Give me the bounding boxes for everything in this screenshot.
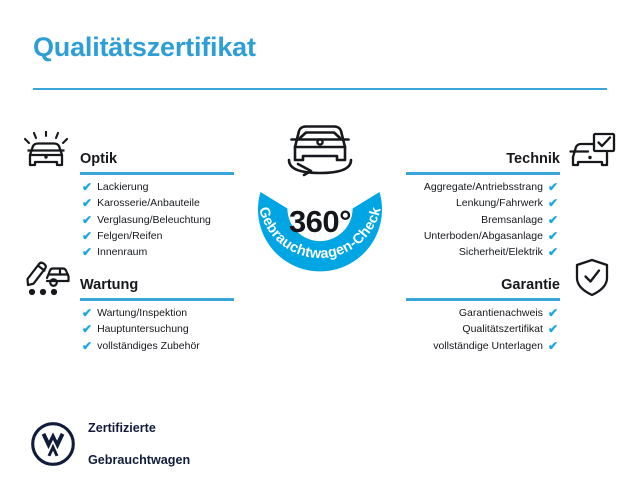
section-header: Optik [22,131,234,173]
check-icon: ✔ [82,340,92,352]
section-divider [406,298,560,301]
vw-certified-logo: Zertifizierte Gebrauchtwagen [31,404,190,484]
section-technik: Technik Aggregate/Antriebsstrang✔Lenkung… [406,131,618,260]
section-title: Wartung [80,277,138,293]
section-title: Optik [80,151,117,167]
check-icon: ✔ [548,307,558,319]
header-divider [33,88,607,90]
checklist-item-label: Aggregate/Antriebsstrang [424,179,543,195]
checklist-item: ✔Felgen/Reifen [22,228,234,244]
checklist-item-label: Qualitätszertifikat [462,321,543,337]
checklist-item: vollständige Unterlagen✔ [406,338,618,354]
check-icon: ✔ [82,230,92,242]
checklist-item-label: vollständige Unterlagen [433,338,543,354]
section-title: Technik [506,151,560,167]
checklist-item-label: Garantienachweis [459,305,543,321]
check-icon: ✔ [548,197,558,209]
section-header: Wartung [22,257,234,299]
check-icon: ✔ [82,307,92,319]
section-divider [80,298,234,301]
footer-text: Zertifizierte Gebrauchtwagen [88,404,190,484]
check-icon: ✔ [548,340,558,352]
check-icon: ✔ [82,197,92,209]
checklist-item: ✔vollständiges Zubehör [22,338,234,354]
car-checkbox-icon [566,131,618,173]
check-icon: ✔ [82,214,92,226]
section-wartung: Wartung ✔Wartung/Inspektion✔Hauptuntersu… [22,257,234,354]
checklist-item: ✔Hauptuntersuchung [22,321,234,337]
checklist-item-label: vollständiges Zubehör [97,338,200,354]
checklist: ✔Lackierung✔Karosserie/Anbauteile✔Vergla… [22,179,234,260]
section-divider [406,172,560,175]
checklist-item-label: Verglasung/Beleuchtung [97,212,211,228]
check-icon: ✔ [548,214,558,226]
check-icon: ✔ [548,230,558,242]
footer-line-2: Gebrauchtwagen [88,452,190,468]
section-title: Garantie [501,277,560,293]
checklist-item: Qualitätszertifikat✔ [406,321,618,337]
page-title: Qualitätszertifikat [33,32,256,63]
checklist-item-label: Felgen/Reifen [97,228,162,244]
checklist-item-label: Karosserie/Anbauteile [97,195,200,211]
checklist-item: Unterboden/Abgasanlage✔ [406,228,618,244]
checklist-item-label: Bremsanlage [481,212,543,228]
gebrauchtwagen-check-badge: Gebrauchtwagen-Check 360° [228,120,412,304]
checklist-item: Garantienachweis✔ [406,305,618,321]
section-garantie: Garantie Garantienachweis✔Qualitätszerti… [406,257,618,354]
check-icon: ✔ [548,323,558,335]
check-icon: ✔ [82,323,92,335]
shield-check-icon [566,257,618,299]
checklist-item-label: Unterboden/Abgasanlage [424,228,543,244]
checklist-item: ✔Verglasung/Beleuchtung [22,212,234,228]
car-shine-icon [22,131,74,173]
checklist-item-label: Hauptuntersuchung [97,321,189,337]
rotating-car-icon [278,120,362,182]
checklist-item-label: Wartung/Inspektion [97,305,187,321]
checklist-item-label: Lenkung/Fahrwerk [456,195,543,211]
checklist-item: ✔Wartung/Inspektion [22,305,234,321]
checklist-item: ✔Lackierung [22,179,234,195]
checklist: Aggregate/Antriebsstrang✔Lenkung/Fahrwer… [406,179,618,260]
check-icon: ✔ [82,181,92,193]
section-divider [80,172,234,175]
checklist-item: Aggregate/Antriebsstrang✔ [406,179,618,195]
checklist-item: ✔Karosserie/Anbauteile [22,195,234,211]
checklist-item-label: Lackierung [97,179,148,195]
badge-value: 360° [228,204,412,240]
service-pen-car-icon [22,257,74,299]
section-header: Garantie [406,257,618,299]
checklist-item: Bremsanlage✔ [406,212,618,228]
section-optik: Optik ✔Lackierung✔Karosserie/Anbauteile✔… [22,131,234,260]
checklist-item: Lenkung/Fahrwerk✔ [406,195,618,211]
checklist: ✔Wartung/Inspektion✔Hauptuntersuchung✔vo… [22,305,234,354]
vw-logo [31,422,75,466]
checklist: Garantienachweis✔Qualitätszertifikat✔vol… [406,305,618,354]
footer-line-1: Zertifizierte [88,420,190,436]
section-header: Technik [406,131,618,173]
check-icon: ✔ [548,181,558,193]
